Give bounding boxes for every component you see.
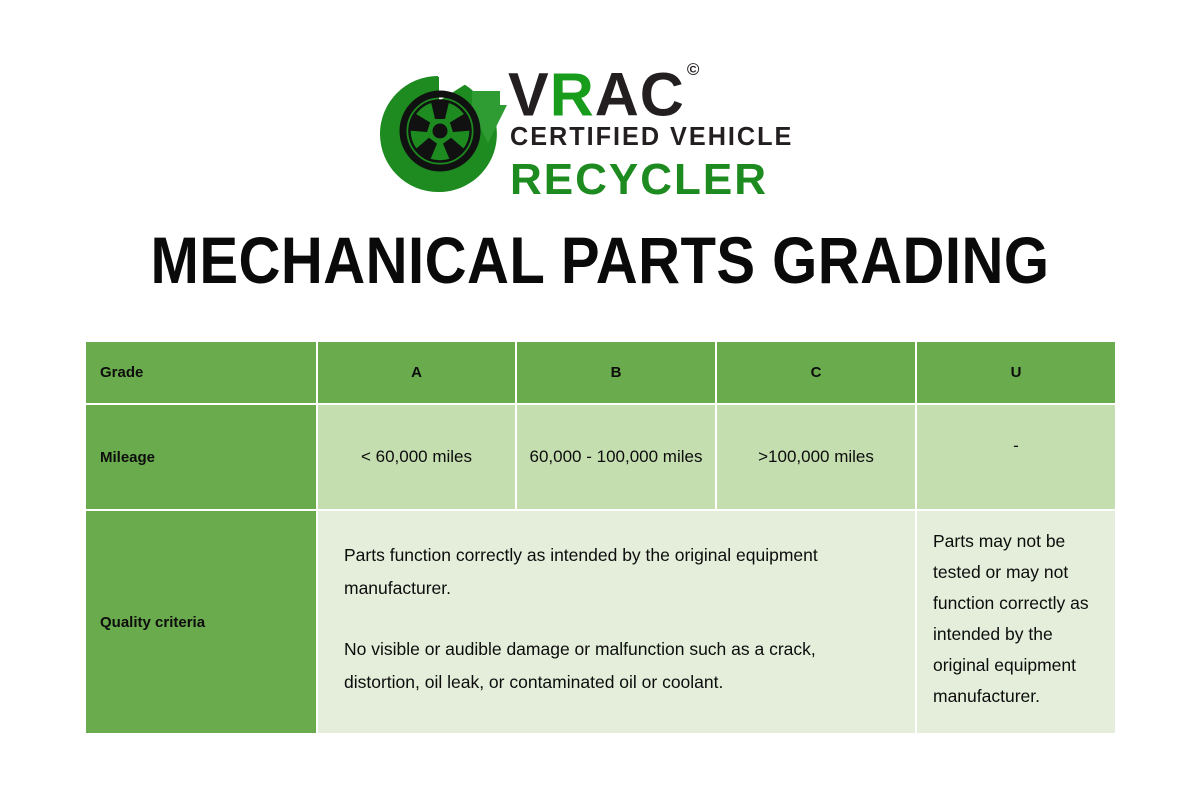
mileage-grade-c-value: >100,000 miles — [717, 405, 917, 511]
header-grade-c: C — [717, 342, 917, 405]
quality-criteria-paragraph-2: No visible or audible damage or malfunct… — [344, 633, 889, 699]
logo-wordmark: VRAC© CERTIFIED VEHICLE RECYCLER — [508, 55, 838, 200]
mileage-grade-a-value: < 60,000 miles — [318, 405, 517, 511]
header-grade-b: B — [517, 342, 717, 405]
header-grade-u: U — [917, 342, 1115, 405]
header-grade-label: Grade — [86, 342, 318, 405]
row-label-mileage: Mileage — [86, 405, 318, 511]
grading-sheet-page: VRAC© CERTIFIED VEHICLE RECYCLER MECHANI… — [0, 0, 1200, 800]
logo-vrac-v: V — [508, 60, 550, 128]
logo-vrac-ac: AC — [595, 60, 685, 128]
mileage-grade-b-value: 60,000 - 100,000 miles — [517, 405, 717, 511]
copyright-icon: © — [687, 60, 701, 79]
page-title: MECHANICAL PARTS GRADING — [72, 222, 1128, 298]
table-row-mileage: Mileage < 60,000 miles 60,000 - 100,000 … — [86, 405, 1115, 511]
quality-criteria-u-cell: Parts may not be tested or may not funct… — [917, 511, 1115, 733]
table-row-quality-criteria: Quality criteria Parts function correctl… — [86, 511, 1115, 733]
vrac-logo: VRAC© CERTIFIED VEHICLE RECYCLER — [376, 55, 836, 200]
header-grade-a: A — [318, 342, 517, 405]
vrac-wheel-recycle-logo-icon — [376, 61, 511, 196]
table-header-row: Grade A B C U — [86, 342, 1115, 405]
quality-criteria-paragraph-1: Parts function correctly as intended by … — [344, 539, 889, 605]
logo-vrac-r: R — [550, 60, 595, 128]
mileage-grade-u-value: - — [917, 405, 1115, 511]
logo-recycler-text: RECYCLER — [510, 155, 768, 205]
logo-vrac-text: VRAC© — [508, 57, 698, 126]
row-label-quality-criteria: Quality criteria — [86, 511, 318, 733]
quality-criteria-abc-cell: Parts function correctly as intended by … — [318, 511, 917, 733]
logo-tagline: CERTIFIED VEHICLE — [510, 123, 793, 152]
mechanical-parts-grading-table: Grade A B C U Mileage < 60,000 miles 60,… — [86, 342, 1115, 733]
